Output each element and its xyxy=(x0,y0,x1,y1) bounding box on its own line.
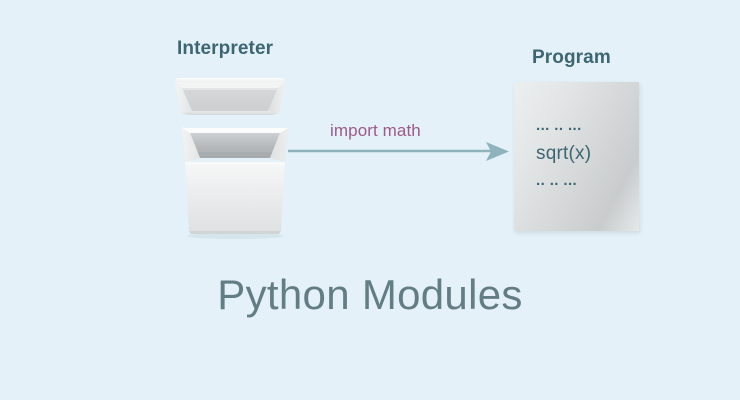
box-top-rim xyxy=(182,128,288,133)
import-statement-label: import math xyxy=(330,121,421,141)
lid-top-bevel xyxy=(175,82,285,88)
box-front-lip xyxy=(185,162,285,165)
code-line-1: ... .. ... xyxy=(536,118,636,134)
page-title: Python Modules xyxy=(0,271,740,319)
import-arrow-graphic xyxy=(288,138,513,164)
lid-inner-panel xyxy=(182,88,278,111)
program-sheet-graphic: ... .. ... sqrt(x) .. .. ... xyxy=(514,82,639,231)
code-line-2: sqrt(x) xyxy=(536,141,636,167)
box-interior-floor xyxy=(197,152,273,158)
lid-bottom-rim xyxy=(181,111,279,115)
arrow-right-icon xyxy=(288,138,513,164)
program-code-block: ... .. ... sqrt(x) .. .. ... xyxy=(536,118,636,189)
box-front-face xyxy=(185,162,285,231)
interpreter-label: Interpreter xyxy=(177,38,273,60)
box-ground-shadow xyxy=(187,233,283,239)
code-line-3: .. .. ... xyxy=(536,173,636,189)
lid-top-surface xyxy=(175,78,285,82)
diagram-canvas: Interpreter xyxy=(0,0,740,400)
program-label: Program xyxy=(532,47,611,69)
lid-inner-shadow xyxy=(182,88,278,90)
